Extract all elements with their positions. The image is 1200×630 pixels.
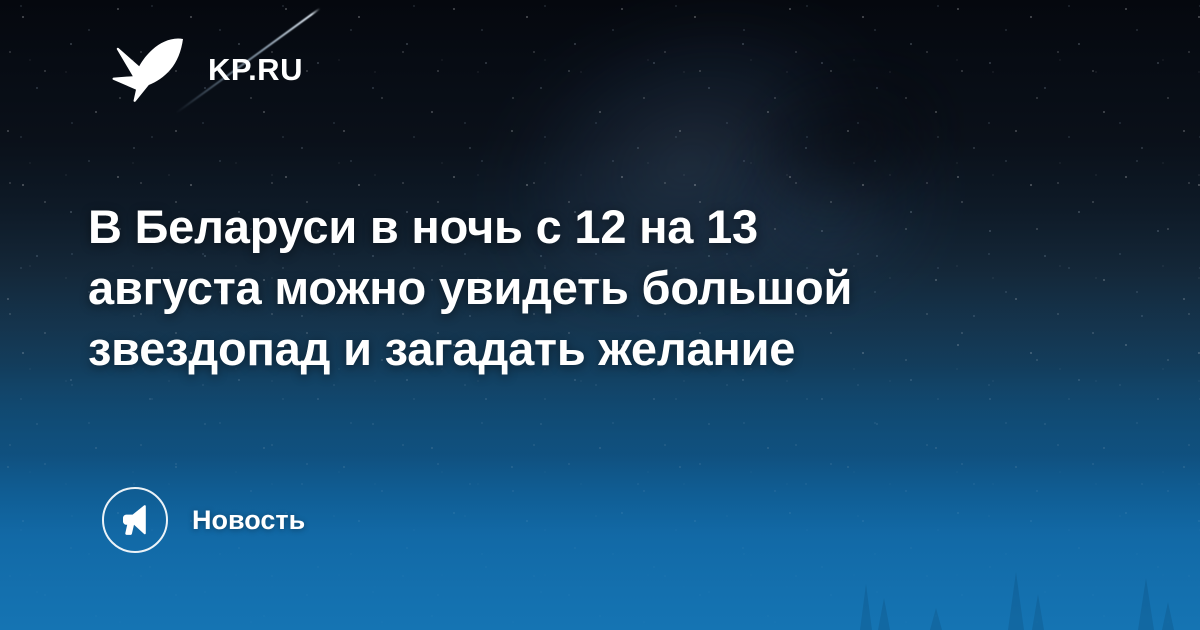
category-badge[interactable]: Новость [102, 487, 305, 553]
headline-line-3: звездопад и загадать желание [88, 318, 1048, 379]
headline-line-1: В Беларуси в ночь с 12 на 13 [88, 196, 1048, 257]
megaphone-icon [118, 503, 152, 537]
site-logo[interactable]: KP.RU [112, 36, 303, 102]
badge-icon-circle [102, 487, 168, 553]
pine-tree-silhouettes [0, 550, 1200, 630]
badge-label: Новость [192, 507, 305, 534]
page-title: В Беларуси в ночь с 12 на 13 августа мож… [88, 196, 1048, 379]
social-share-card: KP.RU В Беларуси в ночь с 12 на 13 авгус… [0, 0, 1200, 630]
headline-line-2: августа можно увидеть большой [88, 257, 1048, 318]
swallow-bird-icon [112, 36, 184, 102]
logo-wordmark: KP.RU [208, 54, 303, 85]
